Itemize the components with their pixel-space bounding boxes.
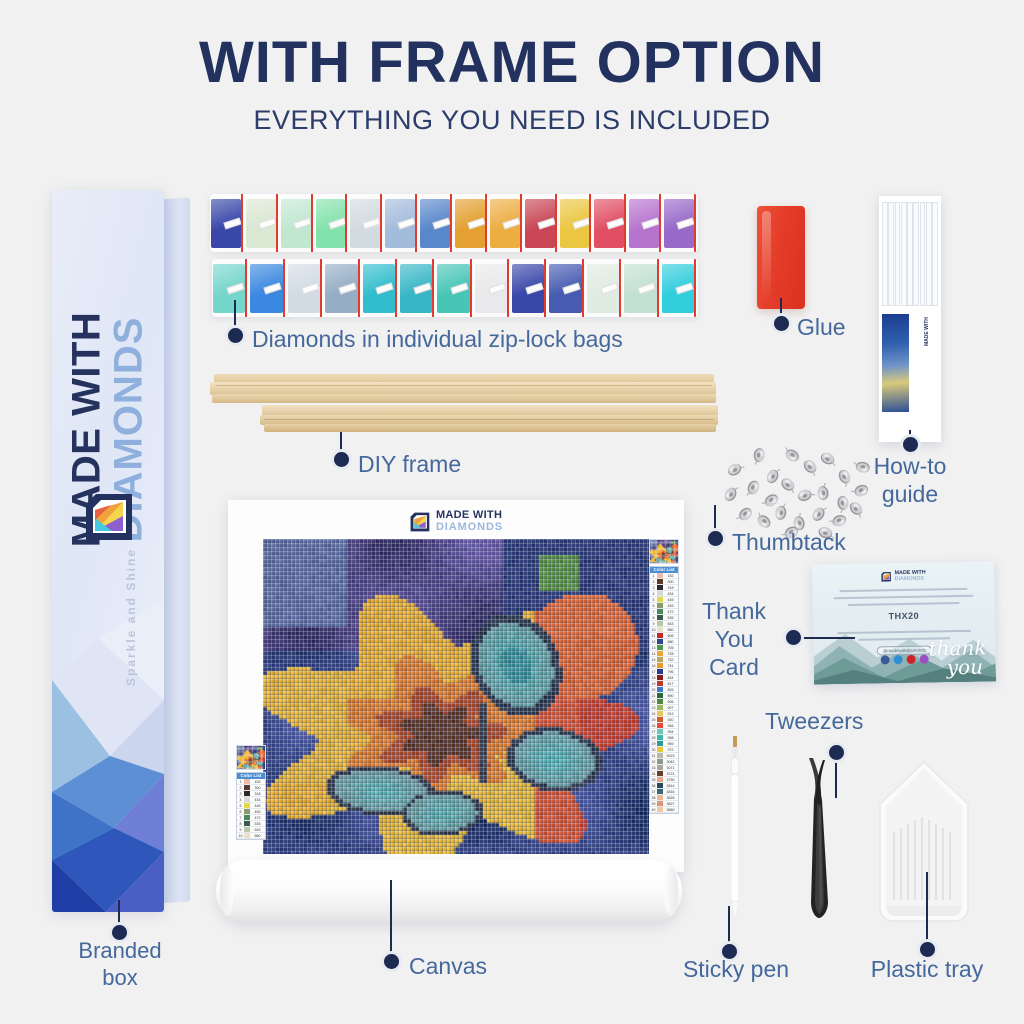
color-row-code: 954 — [663, 730, 678, 734]
color-row-number: 28 — [650, 736, 657, 740]
color-row-number: 13 — [650, 646, 657, 650]
color-row-number: 9 — [237, 828, 244, 832]
color-row-code: 560 — [663, 628, 678, 632]
color-row-number: 6 — [650, 604, 657, 608]
color-row-number: 30 — [650, 748, 657, 752]
canvas-drill-grid — [263, 539, 649, 854]
color-row-number: 35 — [650, 778, 657, 782]
guide-chart-column — [920, 202, 926, 306]
guide-brand-logo: MADE WITH DIAMONDS — [915, 317, 941, 346]
color-row-number: 39 — [650, 802, 657, 806]
color-row-code: 912 — [663, 712, 678, 716]
color-row-code: 606 — [663, 634, 678, 638]
color-row-number: 11 — [650, 634, 657, 638]
color-row-number: 5 — [237, 804, 244, 808]
canvas-preview-thumb-left — [236, 745, 266, 770]
canvas-color-list-left: Color List 11522300331844345445645374728… — [236, 772, 266, 840]
guide-chart-column — [901, 202, 907, 306]
frame-bar — [264, 424, 716, 432]
diamond-bags-row-bottom — [212, 259, 698, 317]
diamond-bag — [315, 194, 350, 252]
color-row-code: 972 — [663, 748, 678, 752]
thumbtack-pin — [852, 458, 872, 479]
color-row-number: 16 — [650, 664, 657, 668]
thumbtack-pin — [846, 502, 866, 523]
canvas-preview-thumb-right — [649, 539, 679, 564]
card-logo-line2: DIAMONDS — [895, 576, 926, 583]
frame-bar — [212, 394, 716, 403]
page-subtitle: EVERYTHING YOU NEED IS INCLUDED — [0, 105, 1024, 136]
color-row-number: 31 — [650, 754, 657, 758]
canvas-print: MADE WITH DIAMONDS Color List 1152230033… — [228, 500, 684, 872]
color-row-code: 834 — [663, 676, 678, 680]
sticky-pen — [727, 736, 743, 918]
callout-diamond-bags: Diamonds in individual zip-lock bags — [252, 325, 623, 353]
twitter-icon — [894, 655, 903, 664]
thank-you-card-dot — [786, 630, 801, 645]
card-script-line2: you — [943, 658, 987, 678]
color-row-number: 1 — [650, 574, 657, 578]
guide-color-chart — [882, 202, 938, 306]
color-row-number: 25 — [650, 718, 657, 722]
color-row-number: 1 — [237, 780, 244, 784]
color-row-code: 152 — [250, 780, 265, 784]
color-row-code: 318 — [663, 586, 678, 590]
color-row-code: 300 — [663, 580, 678, 584]
diamond-bags-row-top — [210, 194, 698, 252]
color-row-number: 10 — [237, 834, 244, 838]
color-row-number: 34 — [650, 772, 657, 776]
diamond-bag — [324, 259, 361, 317]
thumbtack-pin — [748, 448, 768, 469]
color-row-code: 535 — [663, 616, 678, 620]
color-row-number: 18 — [650, 676, 657, 680]
diamond-bag — [623, 259, 660, 317]
diamond-bag — [212, 259, 249, 317]
callout-tweezers: Tweezers — [765, 707, 863, 735]
color-row-number: 9 — [650, 622, 657, 626]
guide-chart-column — [907, 202, 913, 306]
color-row-number: 22 — [650, 700, 657, 704]
color-row-number: 12 — [650, 640, 657, 644]
color-row-number: 4 — [650, 592, 657, 596]
box-brand-text: MADE WITH DIAMONDS — [65, 220, 152, 640]
color-row-code: 920 — [663, 718, 678, 722]
color-row-number: 37 — [650, 790, 657, 794]
color-row-code: 728 — [663, 652, 678, 656]
tweezers-leader — [835, 760, 837, 798]
color-row-code: 543 — [250, 828, 265, 832]
diamond-bag — [362, 259, 399, 317]
color-row-code: 453 — [250, 810, 265, 814]
color-row-number: 38 — [650, 796, 657, 800]
frame-wood-grain — [216, 385, 712, 386]
color-row-number: 33 — [650, 766, 657, 770]
diamond-bag — [349, 194, 384, 252]
color-row-code: 3721 — [663, 772, 678, 776]
diamond-bag — [280, 194, 315, 252]
canvas-brand-logo: MADE WITH DIAMONDS — [409, 510, 503, 534]
color-row-code: 825 — [663, 688, 678, 692]
color-list-row: 403860 — [650, 807, 678, 813]
thumbtack-leader — [714, 505, 716, 533]
frame-wood-grain — [264, 419, 714, 420]
diamond-bag — [628, 194, 663, 252]
diamond-bag — [524, 194, 559, 252]
diamond-bag — [663, 194, 698, 252]
color-row-code: 796 — [663, 670, 678, 674]
diamond-bag — [586, 259, 623, 317]
color-row-number: 8 — [650, 616, 657, 620]
callout-thank-you-card: Thank You Card — [686, 597, 782, 681]
color-row-code: 543 — [663, 622, 678, 626]
page-title: WITH FRAME OPTION — [0, 33, 1024, 94]
color-row-number: 24 — [650, 712, 657, 716]
callout-diy-frame: DIY frame — [358, 450, 461, 478]
canvas-logo-line1: MADE WITH — [436, 510, 503, 521]
color-row-code: 3827 — [663, 802, 678, 806]
card-discount-code: THX20 — [889, 611, 920, 622]
how-to-guide-booklet: MADE WITH DIAMONDS — [879, 196, 941, 442]
diamond-bag — [489, 194, 524, 252]
color-row-code: 3814 — [663, 784, 678, 788]
color-row-code: 732 — [663, 658, 678, 662]
color-row-number: 2 — [650, 580, 657, 584]
box-side-panel — [164, 198, 190, 903]
color-row-code: 535 — [250, 822, 265, 826]
color-row-code: 906 — [663, 700, 678, 704]
guide-cover-image — [882, 314, 909, 412]
canvas-logo-line2: DIAMONDS — [436, 521, 503, 534]
color-row-number: 3 — [650, 586, 657, 590]
color-row-number: 3 — [237, 792, 244, 796]
callout-canvas: Canvas — [409, 952, 487, 980]
color-row-number: 29 — [650, 742, 657, 746]
callout-branded-box: Branded box — [55, 938, 185, 992]
color-row-code: 300 — [250, 786, 265, 790]
color-row-code: 152 — [663, 574, 678, 578]
box-front-panel: MADE WITH DIAMONDS Sparkle and Shine — [52, 190, 164, 912]
diamond-bag — [249, 259, 286, 317]
card-message-line3 — [848, 602, 960, 606]
color-row-number: 19 — [650, 682, 657, 686]
color-row-number: 26 — [650, 724, 657, 728]
color-row-number: 2 — [237, 786, 244, 790]
diamond-bag — [474, 259, 511, 317]
guide-chart-column — [926, 202, 932, 306]
color-row-code: 958 — [663, 736, 678, 740]
color-row-code: 680 — [663, 640, 678, 644]
canvas-rolled-tube — [216, 860, 682, 922]
color-row-code: 445 — [250, 804, 265, 808]
guide-logo-line1: MADE WITH — [924, 317, 930, 346]
color-row-number: 15 — [650, 658, 657, 662]
diamond-bag — [210, 194, 245, 252]
color-row-number: 17 — [650, 670, 657, 674]
color-row-code: 3860 — [663, 808, 678, 812]
diamond-bag — [384, 194, 419, 252]
color-row-number: 27 — [650, 730, 657, 734]
tweezers-dot — [829, 745, 844, 760]
thumbtack-pin — [722, 486, 742, 507]
guide-chart-column — [888, 202, 894, 306]
card-thank-you-script: thank you — [928, 639, 986, 678]
color-row-code: 318 — [250, 792, 265, 796]
diamond-bag — [661, 259, 698, 317]
color-row-number: 10 — [650, 628, 657, 632]
color-list-title: Color List — [237, 773, 265, 779]
glue-dot — [774, 316, 789, 331]
plastic-tray-leader — [926, 872, 928, 944]
color-row-code: 959 — [663, 742, 678, 746]
color-list-title: Color List — [650, 567, 678, 573]
callout-sticky-pen: Sticky pen — [676, 955, 796, 983]
color-row-code: 3826 — [663, 796, 678, 800]
thumbtack-pin — [734, 506, 754, 527]
diy-frame — [206, 372, 722, 444]
diamond-bag — [287, 259, 324, 317]
branded-box-leader — [118, 900, 120, 928]
card-social-icons — [881, 655, 929, 665]
color-row-number: 32 — [650, 760, 657, 764]
color-row-code: 434 — [250, 798, 265, 802]
color-row-code: 445 — [663, 598, 678, 602]
guide-chart-column — [895, 202, 901, 306]
sticky-pen-leader — [728, 906, 730, 946]
thank-you-card: MADE WITH DIAMONDS THX20 @madewithdiamon… — [812, 561, 996, 684]
color-row-code: 3042 — [663, 760, 678, 764]
color-row-number: 21 — [650, 694, 657, 698]
color-row-number: 23 — [650, 706, 657, 710]
color-row-code: 705 — [663, 646, 678, 650]
callout-thumbtack: Thumbtack — [732, 528, 846, 556]
color-row-code: 3816 — [663, 790, 678, 794]
guide-chart-column — [932, 202, 938, 306]
box-brand-line1: MADE WITH — [65, 220, 110, 640]
pinterest-icon — [907, 655, 916, 664]
color-row-number: 36 — [650, 784, 657, 788]
card-brand-logo: MADE WITH DIAMONDS — [881, 571, 926, 584]
color-row-number: 6 — [237, 810, 244, 814]
how-to-guide-dot — [903, 437, 918, 452]
infographic-canvas: WITH FRAME OPTION EVERYTHING YOU NEED IS… — [0, 0, 1024, 1024]
canvas-artwork — [263, 539, 649, 854]
glue-bottle — [757, 206, 805, 309]
diamond-bag — [593, 194, 628, 252]
callout-plastic-tray: Plastic tray — [862, 955, 992, 983]
thank-you-card-leader — [793, 637, 855, 639]
diy-frame-dot — [334, 452, 349, 467]
diamond-bag — [399, 259, 436, 317]
color-row-code: 472 — [663, 610, 678, 614]
instagram-icon — [920, 655, 929, 664]
color-row-code: 3023 — [663, 754, 678, 758]
color-row-code: 946 — [663, 724, 678, 728]
color-row-code: 741 — [663, 664, 678, 668]
callout-glue: Glue — [797, 313, 846, 341]
canvas-leader — [390, 880, 392, 956]
facebook-icon — [881, 655, 890, 664]
color-row-number: 40 — [650, 808, 657, 812]
diamond-bags-leader — [234, 300, 236, 330]
diamond-bag — [548, 259, 585, 317]
diamond-bag — [245, 194, 280, 252]
color-row-number: 4 — [237, 798, 244, 802]
color-row-code: 890 — [663, 694, 678, 698]
diamond-bag — [436, 259, 473, 317]
diamond-bags-dot — [228, 328, 243, 343]
color-row-number: 5 — [650, 598, 657, 602]
color-row-code: 3750 — [663, 778, 678, 782]
diamond-bag — [559, 194, 594, 252]
tweezers — [795, 742, 845, 920]
color-list-row: 10560 — [237, 833, 265, 839]
color-row-code: 472 — [250, 816, 265, 820]
color-row-code: 560 — [250, 834, 265, 838]
canvas-color-list-right: Color List 11522300331844345445645374728… — [649, 566, 679, 814]
diamond-bag — [454, 194, 489, 252]
color-row-number: 7 — [237, 816, 244, 820]
color-row-number: 7 — [650, 610, 657, 614]
canvas-dot — [384, 954, 399, 969]
guide-chart-column — [882, 202, 888, 306]
card-message-line2 — [834, 595, 974, 599]
color-row-code: 3071 — [663, 766, 678, 770]
color-row-number: 8 — [237, 822, 244, 826]
guide-chart-column — [913, 202, 919, 306]
box-tagline: Sparkle and Shine — [124, 527, 138, 707]
diamond-bag — [419, 194, 454, 252]
color-row-number: 14 — [650, 652, 657, 656]
color-row-code: 817 — [663, 682, 678, 686]
branded-box: MADE WITH DIAMONDS Sparkle and Shine — [52, 190, 190, 912]
thumbtack-group — [714, 440, 874, 532]
color-row-code: 453 — [663, 604, 678, 608]
color-row-code: 907 — [663, 706, 678, 710]
thumbtack-dot — [708, 531, 723, 546]
diamond-bag — [511, 259, 548, 317]
color-row-number: 20 — [650, 688, 657, 692]
card-message-line1 — [839, 588, 967, 592]
color-row-code: 434 — [663, 592, 678, 596]
